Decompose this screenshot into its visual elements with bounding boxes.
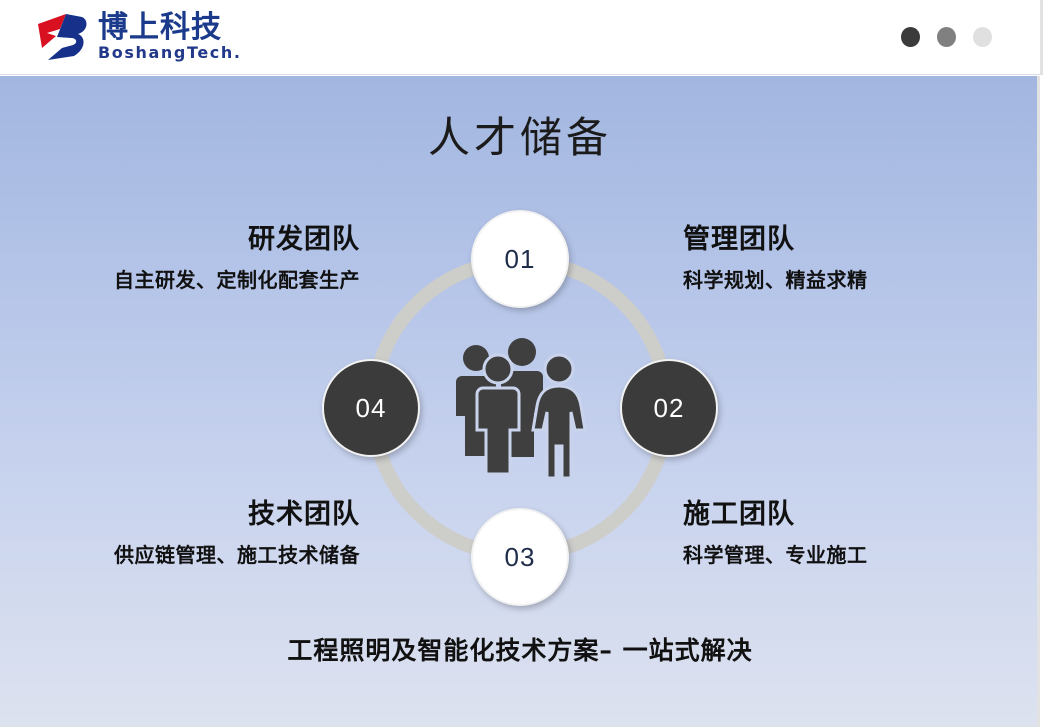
quadrant-bottom-left: 技术团队 供应链管理、施工技术储备	[20, 499, 360, 567]
quadrant-bottom-right: 施工团队 科学管理、专业施工	[683, 499, 1023, 567]
quadrant-subtitle: 自主研发、定制化配套生产	[20, 268, 360, 292]
quadrant-subtitle: 科学规划、精益求精	[683, 268, 1023, 292]
slide-canvas: 人才储备 研发团队 自主研发、定制化配套生产 管理团队 科学规划、精益求精 技术…	[0, 76, 1040, 727]
page-title: 人才储备	[0, 104, 1040, 165]
quadrant-title: 技术团队	[20, 499, 360, 530]
dot-dark[interactable]	[901, 27, 920, 47]
circular-diagram: 01 02 03 04	[330, 218, 710, 598]
diagram-node-02[interactable]: 02	[620, 359, 718, 457]
logo-wordmark: 博上科技 BoshangTech.	[98, 13, 242, 62]
quadrant-subtitle: 科学管理、专业施工	[683, 543, 1023, 567]
dot-medium[interactable]	[937, 27, 956, 47]
diagram-node-01[interactable]: 01	[471, 210, 569, 308]
footer-caption: 工程照明及智能化技术方案– 一站式解决	[0, 631, 1040, 667]
boshang-b-logo-icon	[36, 12, 90, 62]
logo-english-name: BoshangTech.	[98, 45, 242, 61]
page-indicator-dots[interactable]	[901, 27, 992, 47]
quadrant-top-left: 研发团队 自主研发、定制化配套生产	[20, 224, 360, 292]
diagram-node-04[interactable]: 04	[322, 359, 420, 457]
quadrant-title: 管理团队	[683, 224, 1023, 255]
group-of-people-icon	[446, 336, 594, 480]
diagram-node-03[interactable]: 03	[471, 508, 569, 606]
quadrant-subtitle: 供应链管理、施工技术储备	[20, 543, 360, 567]
quadrant-top-right: 管理团队 科学规划、精益求精	[683, 224, 1023, 292]
dot-light[interactable]	[973, 27, 992, 47]
logo-chinese-name: 博上科技	[98, 13, 242, 44]
presentation-slide: 博上科技 BoshangTech. 人才储备 研发团队 自主研发、定制化配套生产…	[0, 0, 1043, 727]
quadrant-title: 施工团队	[683, 499, 1023, 530]
quadrant-title: 研发团队	[20, 224, 360, 255]
slide-header: 博上科技 BoshangTech.	[0, 0, 1043, 75]
company-logo[interactable]: 博上科技 BoshangTech.	[36, 12, 242, 62]
